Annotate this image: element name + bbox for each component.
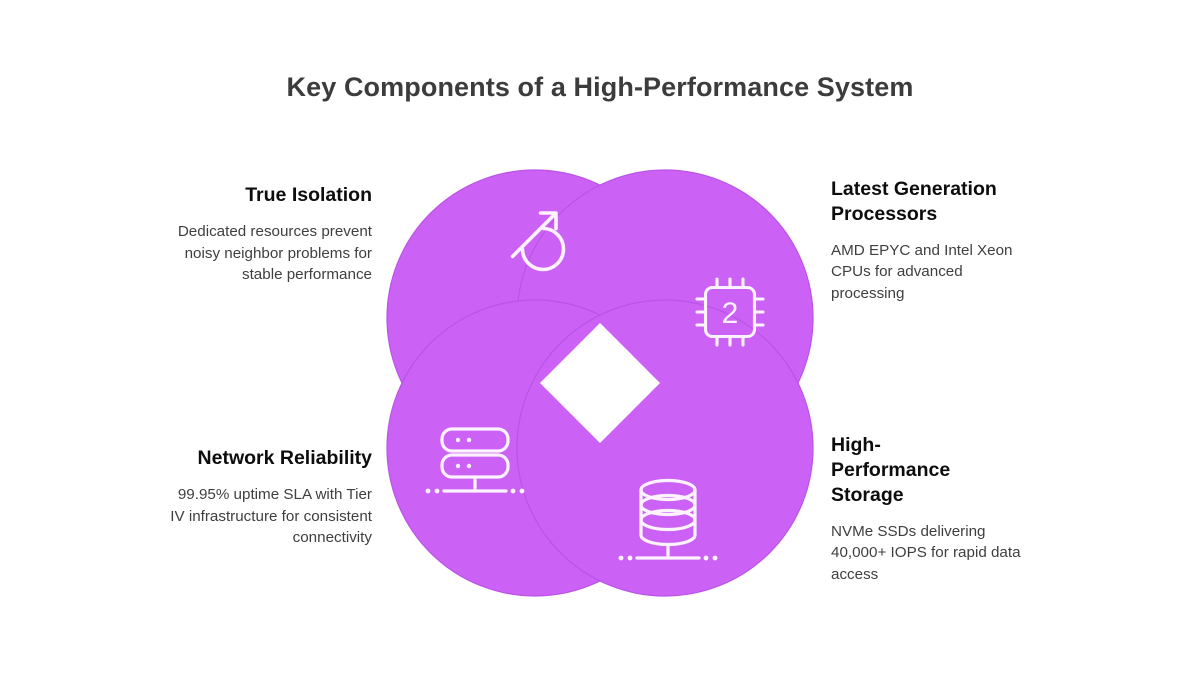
- page-title: Key Components of a High-Performance Sys…: [0, 72, 1200, 103]
- callout-latest-generation-processors: Latest Generation Processors AMD EPYC an…: [831, 177, 1023, 305]
- callout-heading: Latest Generation Processors: [831, 177, 1023, 227]
- callout-body: NVMe SSDs delivering 40,000+ IOPS for ra…: [831, 521, 1021, 586]
- callout-true-isolation: True Isolation Dedicated resources preve…: [175, 183, 372, 286]
- cpu-chip-label: 2: [722, 297, 739, 330]
- callout-body: AMD EPYC and Intel Xeon CPUs for advance…: [831, 240, 1023, 305]
- callout-body: Dedicated resources prevent noisy neighb…: [175, 221, 372, 286]
- callout-high-performance-storage: High-Performance Storage NVMe SSDs deliv…: [831, 433, 981, 586]
- callout-body: 99.95% uptime SLA with Tier IV infrastru…: [163, 484, 372, 549]
- venn-circle-bottom-right[interactable]: [517, 300, 813, 596]
- callout-network-reliability: Network Reliability 99.95% uptime SLA wi…: [163, 446, 372, 549]
- venn-diagram: 2: [370, 155, 830, 610]
- venn-diagram-svg: 2: [370, 155, 830, 610]
- callout-heading: High-Performance Storage: [831, 433, 981, 508]
- slide-canvas: Key Components of a High-Performance Sys…: [0, 0, 1200, 675]
- callout-heading: True Isolation: [175, 183, 372, 208]
- callout-heading: Network Reliability: [163, 446, 372, 471]
